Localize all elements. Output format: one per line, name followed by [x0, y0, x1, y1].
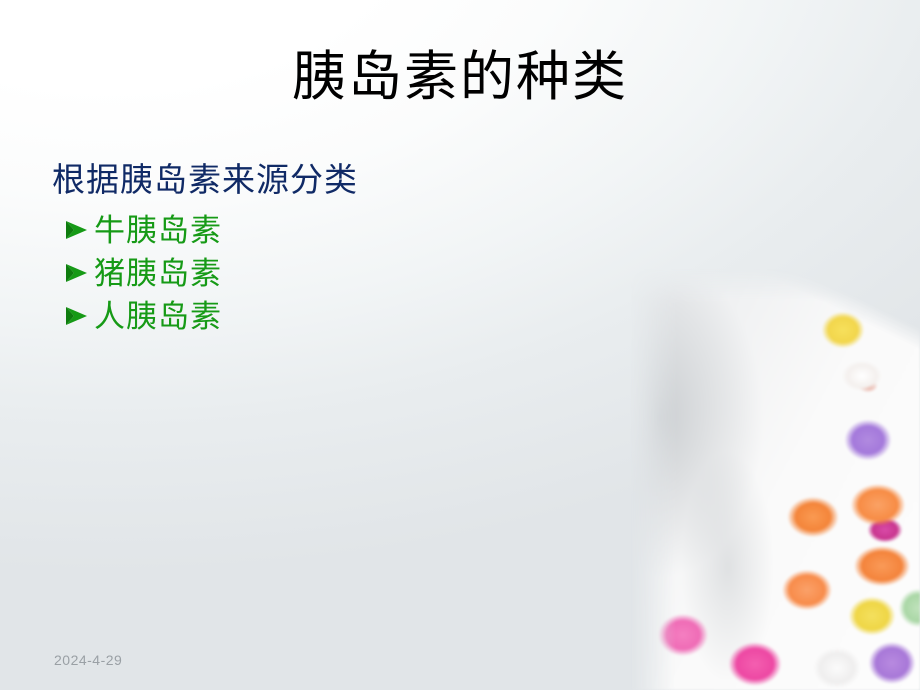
slide-date: 2024-4-29 — [54, 652, 122, 668]
page-title: 胰岛素的种类 — [0, 46, 920, 108]
subheading: 根据胰岛素来源分类 — [52, 162, 612, 201]
candy-hearts-photo-image — [630, 268, 920, 690]
list-item-label: 人胰岛素 — [94, 301, 222, 332]
presentation-slide: 胰岛素的种类 根据胰岛素来源分类 牛胰岛素 — [0, 0, 920, 690]
bullet-list: 牛胰岛素 猪胰岛素 人胰岛素 — [52, 215, 612, 332]
list-item-label: 猪胰岛素 — [94, 258, 222, 289]
arrow-bullet-icon — [64, 261, 92, 285]
arrow-bullet-icon — [64, 218, 92, 242]
arrow-bullet-icon — [64, 304, 92, 328]
list-item: 牛胰岛素 — [52, 215, 612, 246]
candy-hearts-photo — [630, 268, 920, 690]
list-item: 猪胰岛素 — [52, 258, 612, 289]
list-item-label: 牛胰岛素 — [94, 215, 222, 246]
list-item: 人胰岛素 — [52, 301, 612, 332]
slide-body: 根据胰岛素来源分类 牛胰岛素 猪胰岛素 — [52, 162, 612, 344]
